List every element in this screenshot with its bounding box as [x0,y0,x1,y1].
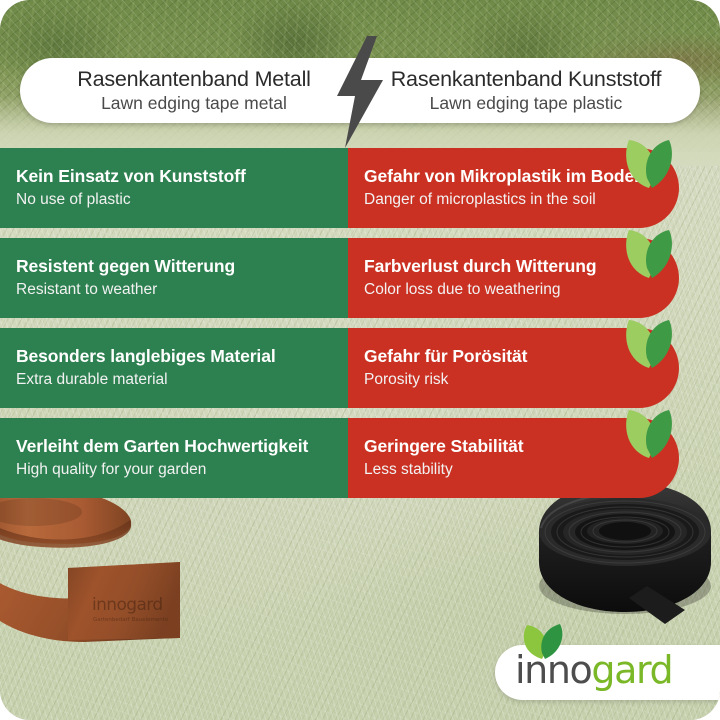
brand-logo: innogard [495,645,720,700]
pro-title: Besonders langlebiges Material [16,347,334,366]
con-subtitle: Porosity risk [364,371,665,389]
con-bar: Gefahr für Porösität Porosity risk [348,328,679,408]
pro-subtitle: High quality for your garden [16,461,334,479]
header-column-metal: Rasenkantenband Metall Lawn edging tape … [32,58,356,123]
pro-bar: Resistent gegen Witterung Resistant to w… [0,238,348,318]
header-subtitle-metal: Lawn edging tape metal [101,93,287,114]
pro-bar: Besonders langlebiges Material Extra dur… [0,328,348,408]
header-title-metal: Rasenkantenband Metall [77,68,310,91]
pro-subtitle: Resistant to weather [16,281,334,299]
pro-title: Verleiht dem Garten Hochwertigkeit [16,437,334,456]
svg-text:innogard: innogard [92,595,163,615]
con-bar: Geringere Stabilität Less stability [348,418,679,498]
pro-subtitle: Extra durable material [16,371,334,389]
con-title: Gefahr von Mikroplastik im Boden [364,167,665,186]
svg-text:Gartenbedarf Bauelemente: Gartenbedarf Bauelemente [93,617,169,623]
con-subtitle: Less stability [364,461,665,479]
pro-title: Kein Einsatz von Kunststoff [16,167,334,186]
comparison-row: Verleiht dem Garten Hochwertigkeit High … [0,418,720,498]
con-subtitle: Danger of microplastics in the soil [364,191,665,209]
pro-subtitle: No use of plastic [16,191,334,209]
lightning-bolt-icon [329,36,391,148]
con-title: Farbverlust durch Witterung [364,257,665,276]
header-column-plastic: Rasenkantenband Kunststoff Lawn edging t… [364,58,688,123]
logo-word-first: inno [515,648,591,692]
logo-wordmark: innogard [515,651,672,689]
con-title: Geringere Stabilität [364,437,665,456]
logo-word-second: gard [591,648,672,692]
header-subtitle-plastic: Lawn edging tape plastic [430,93,623,114]
comparison-row: Kein Einsatz von Kunststoff No use of pl… [0,148,720,228]
pro-bar: Kein Einsatz von Kunststoff No use of pl… [0,148,348,228]
con-bar: Farbverlust durch Witterung Color loss d… [348,238,679,318]
comparison-infographic: Rasenkantenband Metall Lawn edging tape … [0,0,720,720]
pro-bar: Verleiht dem Garten Hochwertigkeit High … [0,418,348,498]
con-subtitle: Color loss due to weathering [364,281,665,299]
comparison-row: Besonders langlebiges Material Extra dur… [0,328,720,408]
header-title-plastic: Rasenkantenband Kunststoff [391,68,662,91]
con-bar: Gefahr von Mikroplastik im Boden Danger … [348,148,679,228]
con-title: Gefahr für Porösität [364,347,665,366]
pro-title: Resistent gegen Witterung [16,257,334,276]
comparison-rows: Kein Einsatz von Kunststoff No use of pl… [0,148,720,508]
comparison-row: Resistent gegen Witterung Resistant to w… [0,238,720,318]
